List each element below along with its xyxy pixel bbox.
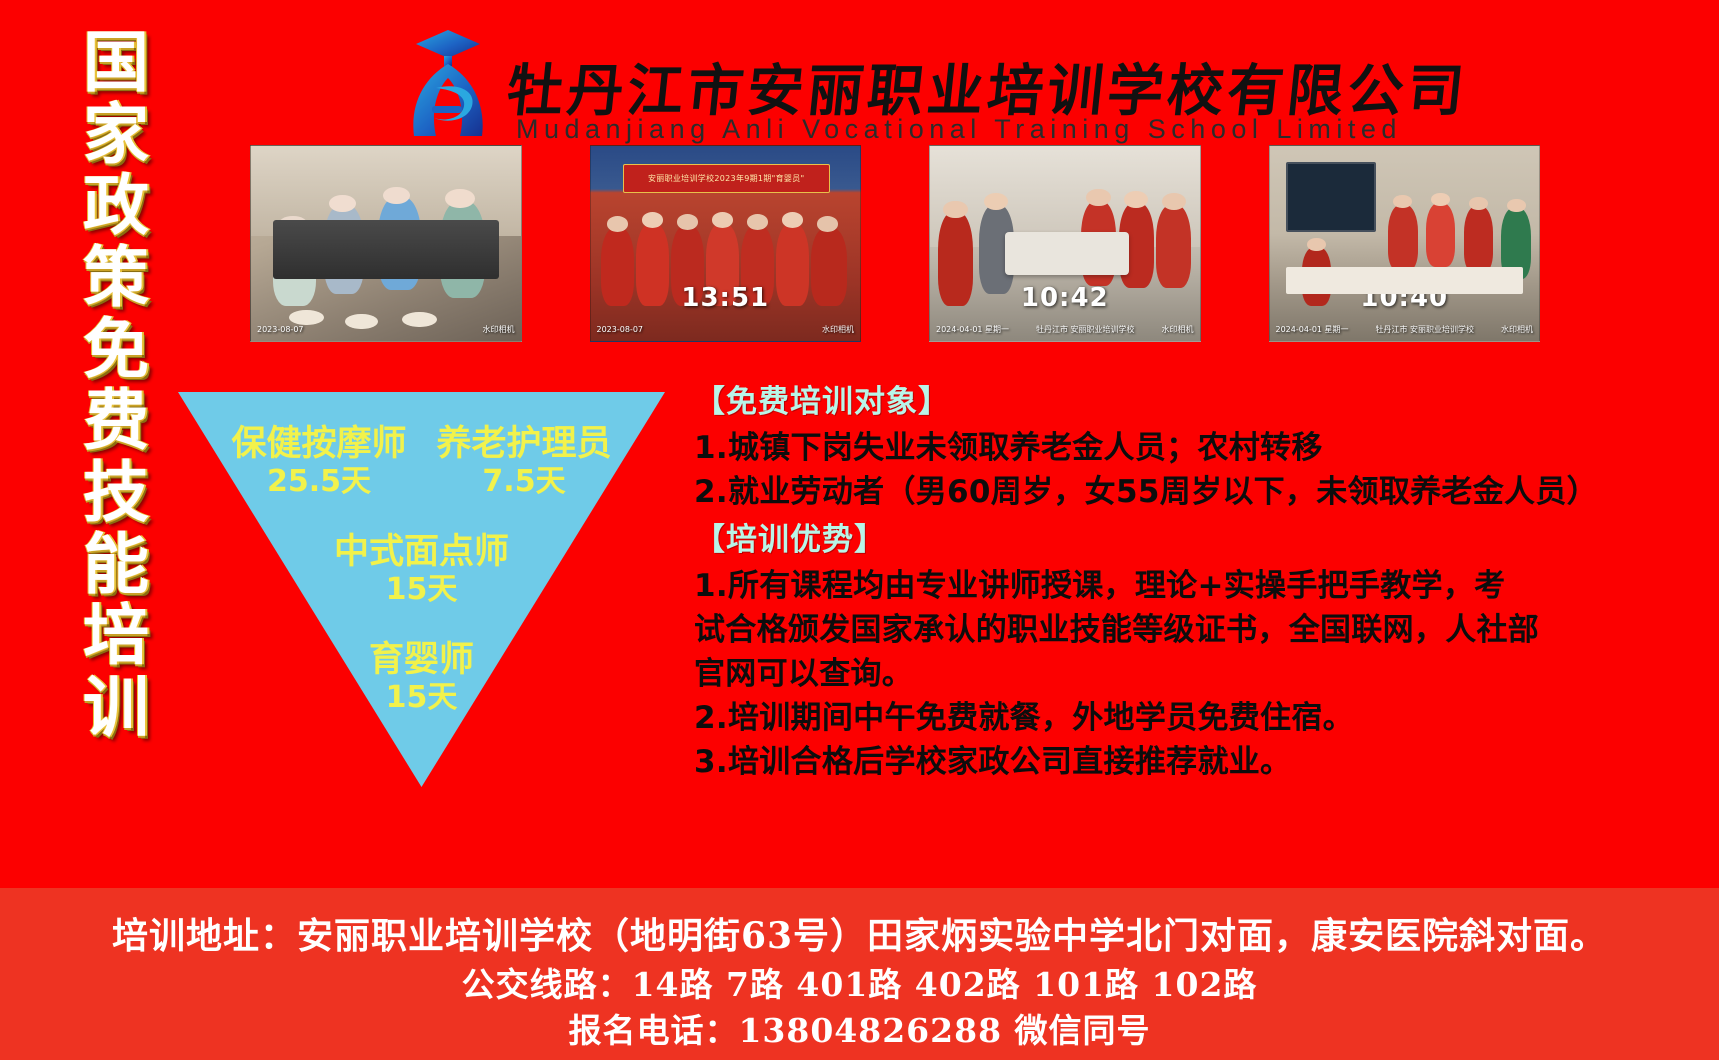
course-duration: 15天	[386, 572, 458, 608]
vertical-char-4: 策	[83, 243, 149, 313]
footer-address: 培训地址：安丽职业培训学校（地明街63号）田家炳实验中学北门对面，康安医院斜对面…	[0, 910, 1719, 962]
target-item-1: 1.城镇下岗失业未领取养老金人员；农村转移	[694, 426, 1704, 470]
course-name: 保健按摩师	[231, 424, 406, 464]
poster-root: 国 家 政 策 免 费 技 能 培 训 牡丹江市安丽职业培训学校有限公司	[0, 0, 1719, 1060]
advantage-item-1-line-3: 官网可以查询。	[694, 652, 1704, 696]
footer-bus-routes: 公交线路：14路 7路 401路 402路 101路 102路	[0, 962, 1719, 1008]
vertical-char-2: 家	[83, 100, 149, 170]
photo-nursing-practice: 10:42 2024-04-01 星期一 牡丹江市 安丽职业培训学校 水印相机	[929, 145, 1201, 342]
course-duration: 7.5天	[482, 464, 565, 500]
photo-timestamp: 10:42	[1021, 283, 1109, 313]
vertical-headline: 国 家 政 策 免 费 技 能 培 训	[60, 28, 172, 743]
advantage-item-1-line-1: 1.所有课程均由专业讲师授课，理论+实操手把手教学，考	[694, 564, 1704, 608]
watermark-label: 牡丹江市 安丽职业培训学校	[1036, 324, 1135, 335]
photo-strip: 2023-08-07 水印相机 安丽职业培训学校2023年9期1期"育婴员" 1…	[250, 145, 1540, 345]
photo-meta: 2024-04-01 星期一 牡丹江市 安丽职业培训学校 水印相机	[936, 324, 1194, 335]
course-item-infantcare: 育婴师 15天	[178, 640, 665, 716]
vertical-char-9: 培	[83, 601, 149, 671]
advantage-item-3: 3.培训合格后学校家政公司直接推荐就业。	[694, 740, 1704, 784]
poster-header: 牡丹江市安丽职业培训学校有限公司 Mudanjiang Anli Vocatio…	[398, 22, 1298, 140]
photo-date: 2024-04-01 星期一	[1276, 324, 1349, 335]
photo-date: 2023-08-07	[257, 325, 304, 334]
photo-timestamp: 13:51	[681, 283, 769, 313]
course-duration: 25.5天	[267, 464, 371, 500]
target-item-2: 2.就业劳动者（男60周岁，女55周岁以下，未领取养老金人员）	[694, 470, 1704, 514]
info-panel: 【免费培训对象】 1.城镇下岗失业未领取养老金人员；农村转移 2.就业劳动者（男…	[694, 382, 1704, 784]
photo-timestamp: 10:40	[1360, 283, 1448, 313]
watermark-label: 水印相机	[483, 324, 515, 335]
photo-banner-text: 安丽职业培训学校2023年9期1期"育婴员"	[623, 164, 830, 193]
footer-phone[interactable]: 报名电话：13804826288 微信同号	[0, 1008, 1719, 1054]
heading-training-advantages: 【培训优势】	[694, 520, 1704, 560]
course-item-pastry: 中式面点师 15天	[178, 532, 665, 608]
school-name-en: Mudanjiang Anli Vocational Training Scho…	[516, 114, 1402, 145]
course-item-massage: 保健按摩师 25.5天	[231, 424, 406, 500]
watermark-brand: 水印相机	[1162, 324, 1194, 335]
courses-triangle-block: 保健按摩师 25.5天 养老护理员 7.5天 中式面点师 15天 育婴师 15天	[178, 392, 665, 787]
course-name: 养老护理员	[437, 424, 612, 464]
watermark-brand: 水印相机	[1501, 324, 1533, 335]
photo-classroom: 10:40 2024-04-01 星期一 牡丹江市 安丽职业培训学校 水印相机	[1269, 145, 1541, 342]
photo-date: 2024-04-01 星期一	[936, 324, 1009, 335]
vertical-char-3: 政	[83, 171, 149, 241]
photo-meta: 2023-08-07 水印相机	[257, 324, 515, 335]
vertical-char-8: 能	[83, 530, 149, 600]
photo-meta: 2023-08-07 水印相机	[597, 324, 855, 335]
contact-footer: 培训地址：安丽职业培训学校（地明街63号）田家炳实验中学北门对面，康安医院斜对面…	[0, 888, 1719, 1060]
vertical-char-5: 免	[83, 315, 149, 385]
vertical-char-1: 国	[83, 28, 149, 98]
courses-row-1: 保健按摩师 25.5天 养老护理员 7.5天	[178, 424, 665, 500]
course-item-eldercare: 养老护理员 7.5天	[437, 424, 612, 500]
advantage-item-1-line-2: 试合格颁发国家承认的职业技能等级证书，全国联网，人社部	[694, 608, 1704, 652]
advantage-item-2: 2.培训期间中午免费就餐，外地学员免费住宿。	[694, 696, 1704, 740]
photo-date: 2023-08-07	[597, 325, 644, 334]
heading-free-training-targets: 【免费培训对象】	[694, 382, 1704, 422]
course-duration: 15天	[386, 680, 458, 716]
school-logo-icon	[398, 26, 498, 138]
course-name: 育婴师	[369, 640, 474, 680]
vertical-char-10: 训	[83, 673, 149, 743]
photo-meta: 2024-04-01 星期一 牡丹江市 安丽职业培训学校 水印相机	[1276, 324, 1534, 335]
vertical-char-6: 费	[83, 386, 149, 456]
watermark-label: 水印相机	[822, 324, 854, 335]
course-name: 中式面点师	[334, 532, 509, 572]
watermark-label: 牡丹江市 安丽职业培训学校	[1376, 324, 1475, 335]
courses-list: 保健按摩师 25.5天 养老护理员 7.5天 中式面点师 15天 育婴师 15天	[178, 392, 665, 787]
vertical-char-7: 技	[83, 458, 149, 528]
photo-pastry-class: 2023-08-07 水印相机	[250, 145, 522, 342]
photo-group-banner: 安丽职业培训学校2023年9期1期"育婴员" 13:51 2023-08-07 …	[590, 145, 862, 342]
